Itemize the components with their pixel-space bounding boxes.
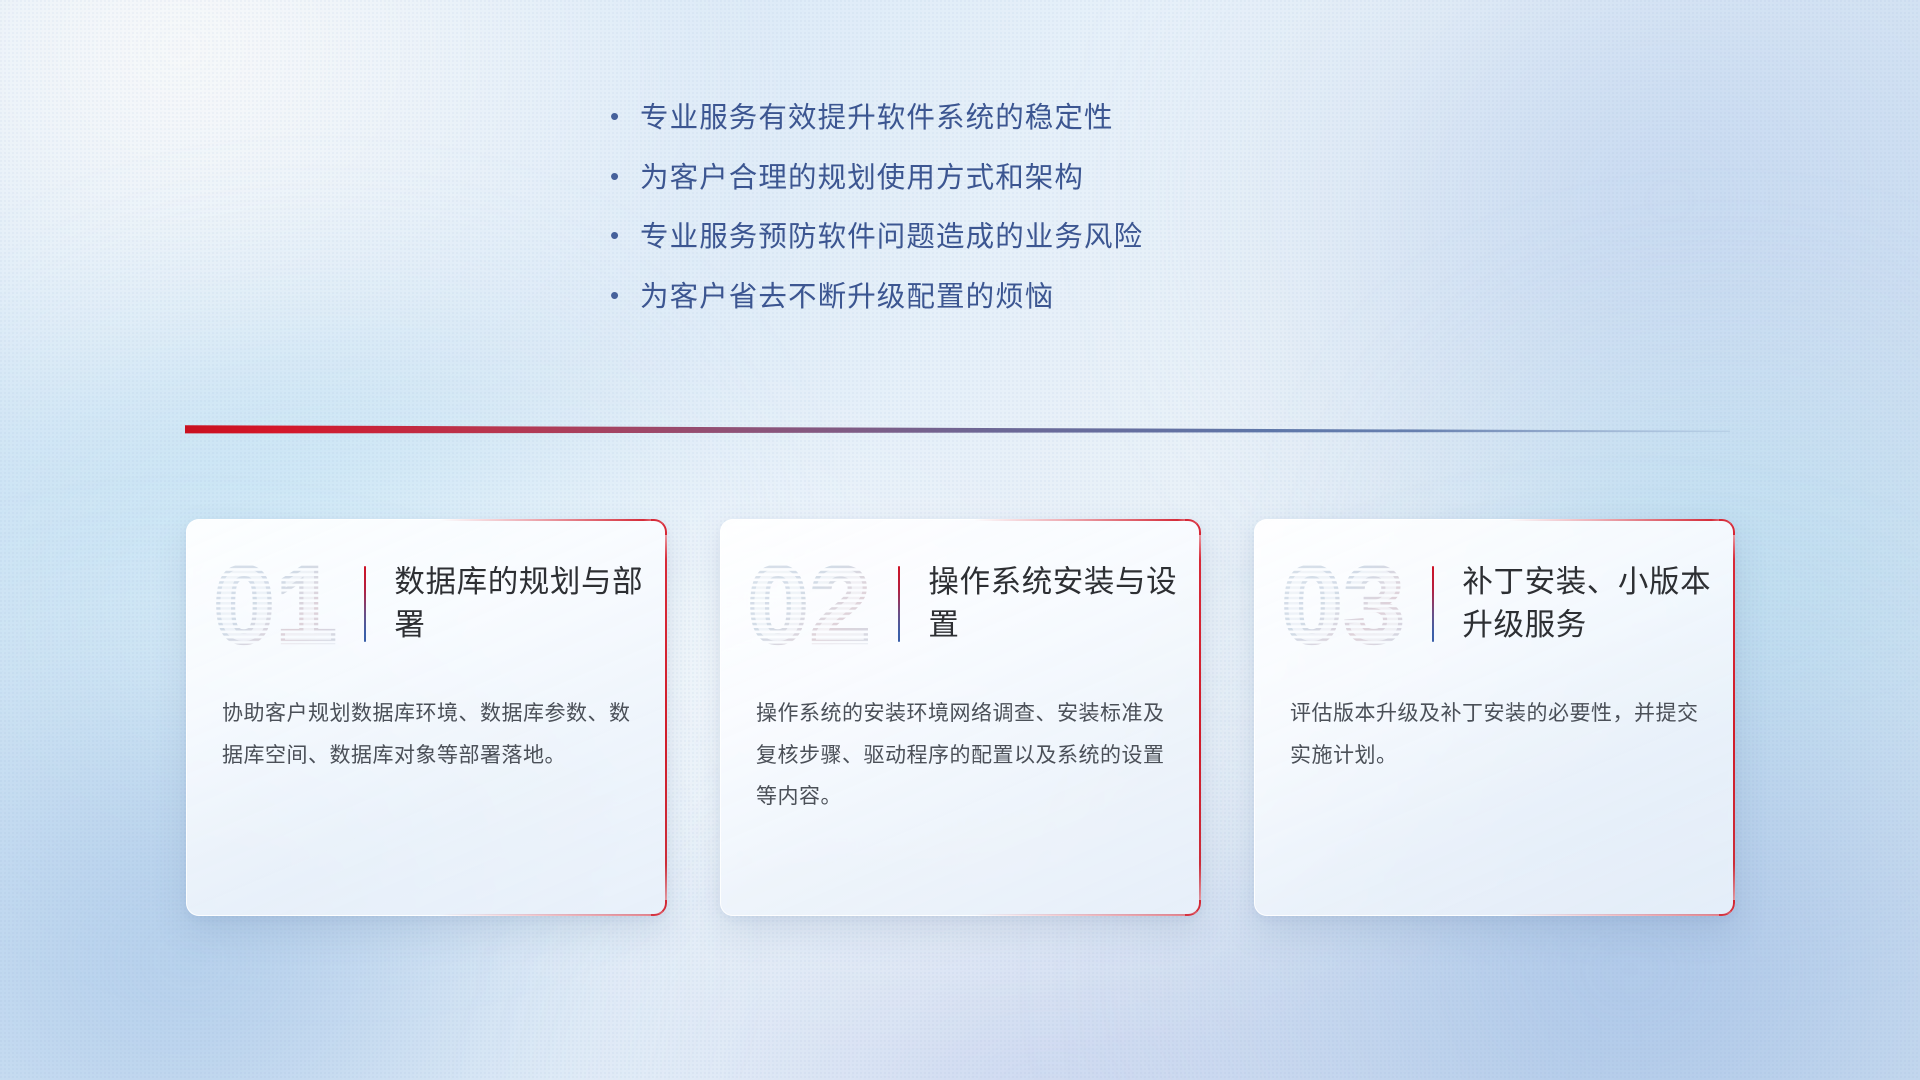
divider-gradient-shape (185, 424, 1730, 438)
service-card-03[interactable]: 03 03 补丁安装、小版本升级服务 评估版本升级及补丁安装的必要性，并提交实施… (1254, 519, 1735, 916)
svg-text:02: 02 (748, 550, 872, 658)
card-number-01-icon: 01 01 (212, 550, 342, 658)
bullet-text: 为客户合理的规划使用方式和架构 (640, 164, 1084, 193)
card-title-divider (898, 566, 900, 642)
bullet-point-icon: • (610, 222, 640, 248)
card-title-divider (364, 566, 366, 642)
bullet-text: 专业服务预防软件问题造成的业务风险 (640, 223, 1143, 252)
card-title: 数据库的规划与部署 (394, 561, 667, 648)
list-item: • 专业服务预防软件问题造成的业务风险 (610, 223, 1310, 252)
card-header: 02 02 操作系统安装与设置 (720, 519, 1201, 689)
bullet-point-icon: • (610, 103, 640, 129)
card-title: 补丁安装、小版本升级服务 (1462, 561, 1735, 648)
card-description: 评估版本升级及补丁安装的必要性，并提交实施计划。 (1254, 693, 1735, 776)
bullet-point-icon: • (610, 282, 640, 308)
service-card-02[interactable]: 02 02 操作系统安装与设置 操作系统的安装环境网络调查、安装标准及复核步骤、… (720, 519, 1201, 916)
card-header: 03 03 补丁安装、小版本升级服务 (1254, 519, 1735, 689)
card-number-03-icon: 03 03 (1280, 550, 1410, 658)
list-item: • 为客户省去不断升级配置的烦恼 (610, 283, 1310, 312)
service-card-row: 01 01 数据库的规划与部署 协助客户规划数据库环境、数据库参数、数据库空间、… (186, 519, 1736, 916)
list-item: • 为客户合理的规划使用方式和架构 (610, 164, 1310, 193)
card-header: 01 01 数据库的规划与部署 (186, 519, 667, 689)
card-description: 操作系统的安装环境网络调查、安装标准及复核步骤、驱动程序的配置以及系统的设置等内… (720, 693, 1201, 818)
benefits-bullet-list: • 专业服务有效提升软件系统的稳定性 • 为客户合理的规划使用方式和架构 • 专… (610, 104, 1310, 342)
svg-text:03: 03 (1282, 550, 1406, 658)
card-description: 协助客户规划数据库环境、数据库参数、数据库空间、数据库对象等部署落地。 (186, 693, 667, 776)
svg-text:01: 01 (214, 550, 338, 658)
list-item: • 专业服务有效提升软件系统的稳定性 (610, 104, 1310, 133)
section-divider (185, 424, 1730, 438)
card-number-02-icon: 02 02 (746, 550, 876, 658)
card-title-divider (1432, 566, 1434, 642)
bullet-text: 专业服务有效提升软件系统的稳定性 (640, 104, 1114, 133)
background-glow-top-right (1220, 0, 1920, 560)
service-card-01[interactable]: 01 01 数据库的规划与部署 协助客户规划数据库环境、数据库参数、数据库空间、… (186, 519, 667, 916)
bullet-text: 为客户省去不断升级配置的烦恼 (640, 283, 1054, 312)
card-title: 操作系统安装与设置 (928, 561, 1201, 648)
bullet-point-icon: • (610, 163, 640, 189)
